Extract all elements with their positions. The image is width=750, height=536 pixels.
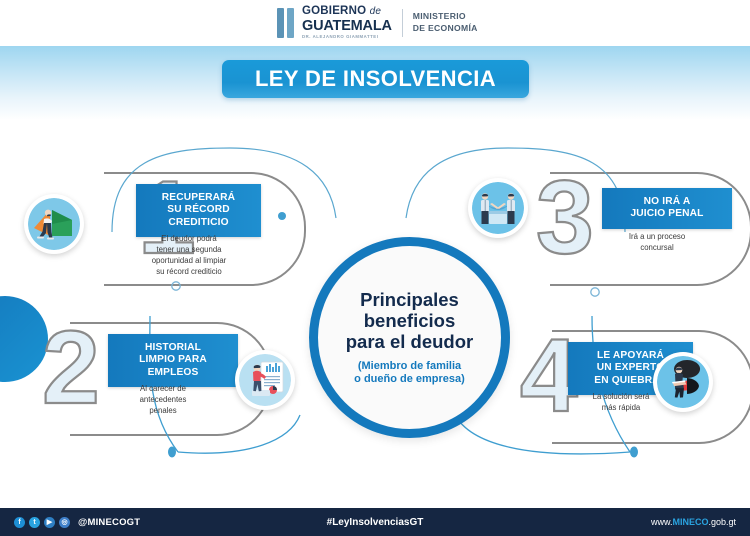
benefit-3-desc-line2: concursal [598,243,716,254]
logo-line1: GOBIERNO de [302,6,392,18]
benefit-3-number: 3 [536,166,594,270]
benefit-3-description: Irá a un proceso concursal [598,232,716,254]
benefit-1-desc-line1: El deudor podrá [128,234,250,245]
handshake-icon [472,182,524,234]
center-subtitle-line2: o dueño de empresa) [354,373,465,386]
benefit-card-2: 2 HISTORIAL LIMPIO PARA EMPLEOS Al carec… [18,322,288,432]
ministry-text: MINISTERIO DE ECONOMÍA [413,11,478,34]
benefit-3-heading: NO IRÁ A JUICIO PENAL [602,188,732,229]
person-pushing-chart-icon [28,198,80,250]
logo-de-text: de [370,6,382,17]
benefit-2-desc-line3: penales [103,406,223,417]
benefit-card-1: 1 RECUPERARÁ SU RÉCORD CREDITICIO El deu… [52,172,322,282]
benefit-1-heading: RECUPERARÁ SU RÉCORD CREDITICIO [136,184,261,237]
logo-text: GOBIERNO de GUATEMALA DR. ALEJANDRO GIAM… [302,6,392,39]
benefit-1-description: El deudor podrá tener una segunda oportu… [128,234,250,278]
benefit-3-icon-badge [468,178,528,238]
benefit-1-heading-line2: SU RÉCORD [146,204,251,216]
benefit-2-heading: HISTORIAL LIMPIO PARA EMPLEOS [108,334,238,387]
benefit-1-desc-line3: oportunidad al limpiar [128,256,250,267]
benefit-2-heading-line1: HISTORIAL [118,342,228,354]
benefit-2-desc-line1: Al carecer de [103,384,223,395]
ministry-line1: MINISTERIO [413,11,478,23]
expert-with-laptop-icon [657,356,709,408]
center-subtitle-line1: (Miembro de familia [354,360,465,373]
benefit-3-heading-line1: NO IRÁ A [612,196,722,208]
benefit-2-number: 2 [42,316,100,420]
logo-gobierno-text: GOBIERNO [302,5,366,17]
benefit-card-4: 4 LE APOYARÁ UN EXPERTO EN QUIEBRAS La s… [500,330,750,440]
center-title-line2: beneficios [346,310,473,331]
person-with-document-icon [239,354,291,406]
page-title: LEY DE INSOLVENCIA [255,66,496,92]
benefit-3-desc-line1: Irá a un proceso [598,232,716,243]
website-suffix: .gob.gt [708,517,736,527]
website-brand: MINECO [672,517,708,527]
center-title: Principales beneficios para el deudor [346,289,473,353]
title-banner: LEY DE INSOLVENCIA [222,60,529,98]
benefit-1-desc-line4: su récord crediticio [128,267,250,278]
website-prefix: www. [651,517,673,527]
logo-line3: DR. ALEJANDRO GIAMMATTEI [302,35,392,39]
benefit-2-description: Al carecer de antecedentes penales [103,384,223,417]
ministry-line2: DE ECONOMÍA [413,23,478,35]
center-circle: Principales beneficios para el deudor (M… [309,237,510,438]
benefit-1-icon-badge [24,194,84,254]
government-logo: GOBIERNO de GUATEMALA DR. ALEJANDRO GIAM… [277,6,478,40]
center-title-line1: Principales [346,289,473,310]
center-subtitle: (Miembro de familia o dueño de empresa) [354,360,465,386]
footer-bar: f t ▶ ◎ @MINECOGT #LeyInsolvenciasGT www… [0,508,750,536]
benefit-1-heading-line3: CREDITICIO [146,217,251,229]
benefit-4-icon-badge [653,352,713,412]
benefit-2-desc-line2: antecedentes [103,395,223,406]
logo-divider [402,9,403,37]
footer-website[interactable]: www.MINECO.gob.gt [651,517,736,527]
benefit-1-heading-line1: RECUPERARÁ [146,192,251,204]
benefit-2-heading-line2: LIMPIO PARA [118,354,228,366]
logo-line2: GUATEMALA [302,19,392,34]
center-title-line3: para el deudor [346,331,473,352]
benefit-card-3: 3 NO IRÁ A JUICIO PENAL Irá a un proceso… [498,172,750,282]
logo-bars-icon [277,8,294,38]
benefit-2-heading-line3: EMPLEOS [118,367,228,379]
infographic-canvas: GOBIERNO de GUATEMALA DR. ALEJANDRO GIAM… [0,0,750,536]
benefit-3-heading-line2: JUICIO PENAL [612,208,722,220]
footer-hashtag: #LeyInsolvenciasGT [0,517,750,528]
benefit-1-desc-line2: tener una segunda [128,245,250,256]
benefit-2-icon-badge [235,350,295,410]
